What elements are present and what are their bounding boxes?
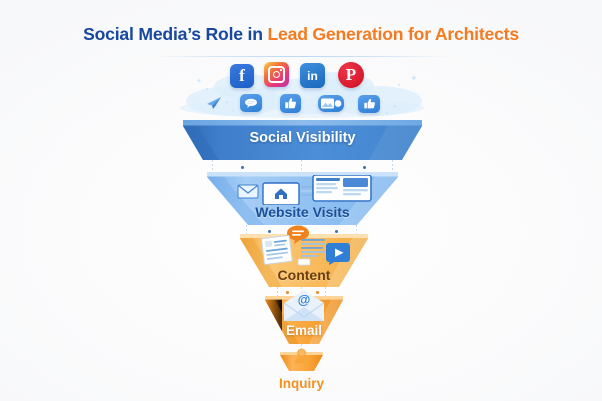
content-illustration [254, 225, 358, 267]
email-envelope-icon: @ [281, 290, 327, 324]
funnel-stage-content[interactable]: Content [240, 234, 368, 287]
linkedin-icon[interactable]: in [300, 63, 325, 88]
funnel-label-inquiry: Inquiry [248, 376, 355, 391]
funnel-label-content: Content [240, 267, 368, 283]
pinterest-icon[interactable]: P [338, 62, 364, 88]
title-divider [150, 56, 452, 57]
funnel-label-website-visits: Website Visits [207, 204, 398, 220]
funnel-label-email: Email [265, 323, 343, 338]
chat-bubble-icon[interactable] [240, 94, 262, 112]
media-card-icon[interactable] [318, 95, 344, 112]
paper-plane-icon[interactable] [206, 96, 222, 110]
thumbs-up-icon-2[interactable] [358, 95, 380, 113]
website-visits-illustration [235, 175, 375, 205]
funnel-outcome-inquiry[interactable]: Inquiry [278, 348, 325, 372]
funnel-stage-website-visits[interactable]: Website Visits [207, 172, 398, 225]
inquiry-cup-icon [278, 348, 325, 372]
thumbs-up-icon[interactable] [280, 94, 301, 113]
infographic-canvas: Social Media’s Role in Lead Generation f… [0, 0, 602, 401]
page-title: Social Media’s Role in Lead Generation f… [0, 24, 602, 45]
title-accent: Lead Generation for Architects [263, 24, 519, 44]
instagram-glyph [268, 66, 285, 83]
instagram-icon[interactable] [264, 62, 289, 87]
funnel-label-social-visibility: Social Visibility [183, 130, 422, 146]
svg-text:@: @ [298, 292, 311, 307]
title-primary: Social Media’s Role in [83, 24, 263, 44]
funnel-stage-email[interactable]: @ Email [265, 296, 343, 344]
funnel-stage-social-visibility[interactable]: Social Visibility [183, 120, 422, 160]
facebook-icon[interactable]: f [230, 64, 254, 88]
